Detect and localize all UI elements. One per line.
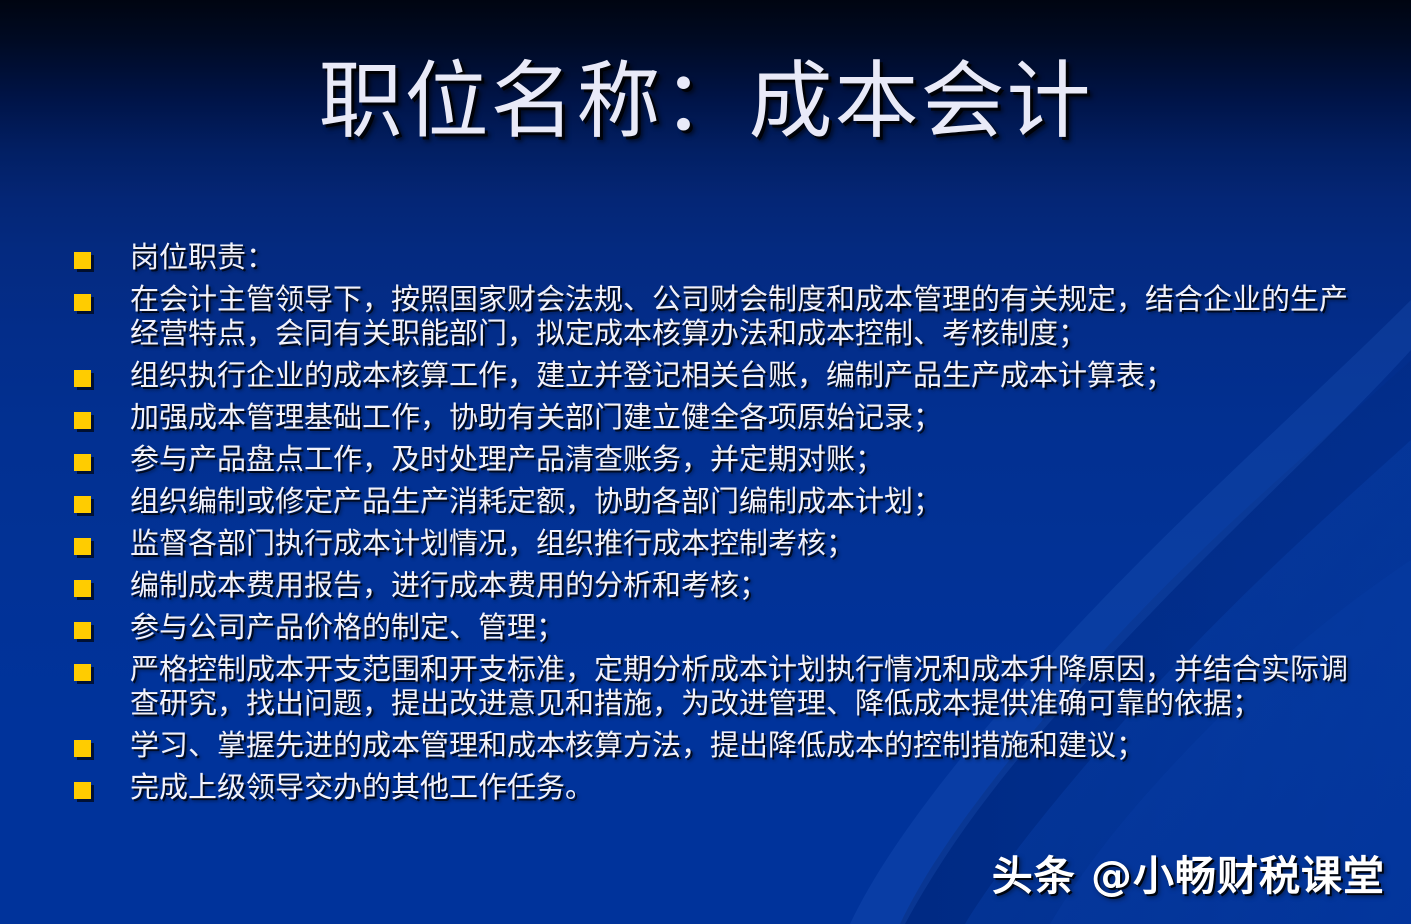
responsibilities-list: 岗位职责： 在会计主管领导下，按照国家财会法规、公司财会制度和成本管理的有关规定… — [74, 240, 1364, 812]
list-item: 参与公司产品价格的制定、管理； — [74, 610, 1364, 644]
list-item: 监督各部门执行成本计划情况，组织推行成本控制考核； — [74, 526, 1364, 560]
square-bullet-icon — [74, 664, 91, 681]
list-item-text: 学习、掌握先进的成本管理和成本核算方法，提出降低成本的控制措施和建议； — [130, 728, 1364, 762]
watermark-label: 头条 @小畅财税课堂 — [992, 842, 1385, 902]
list-item-text: 编制成本费用报告，进行成本费用的分析和考核； — [130, 568, 1364, 602]
square-bullet-icon — [74, 412, 91, 429]
list-item-text: 严格控制成本开支范围和开支标准，定期分析成本计划执行情况和成本升降原因，并结合实… — [130, 652, 1364, 720]
list-item: 在会计主管领导下，按照国家财会法规、公司财会制度和成本管理的有关规定，结合企业的… — [74, 282, 1364, 350]
list-item: 岗位职责： — [74, 240, 1364, 274]
list-item: 参与产品盘点工作，及时处理产品清查账务，并定期对账； — [74, 442, 1364, 476]
square-bullet-icon — [74, 580, 91, 597]
square-bullet-icon — [74, 538, 91, 555]
list-item: 编制成本费用报告，进行成本费用的分析和考核； — [74, 568, 1364, 602]
list-item-text: 组织编制或修定产品生产消耗定额，协助各部门编制成本计划； — [130, 484, 1364, 518]
list-item: 组织执行企业的成本核算工作，建立并登记相关台账，编制产品生产成本计算表； — [74, 358, 1364, 392]
list-item: 学习、掌握先进的成本管理和成本核算方法，提出降低成本的控制措施和建议； — [74, 728, 1364, 762]
list-item-text: 监督各部门执行成本计划情况，组织推行成本控制考核； — [130, 526, 1364, 560]
list-item: 严格控制成本开支范围和开支标准，定期分析成本计划执行情况和成本升降原因，并结合实… — [74, 652, 1364, 720]
square-bullet-icon — [74, 454, 91, 471]
square-bullet-icon — [74, 740, 91, 757]
square-bullet-icon — [74, 294, 91, 311]
list-item-text: 参与产品盘点工作，及时处理产品清查账务，并定期对账； — [130, 442, 1364, 476]
list-item: 组织编制或修定产品生产消耗定额，协助各部门编制成本计划； — [74, 484, 1364, 518]
list-item-text: 参与公司产品价格的制定、管理； — [130, 610, 1364, 644]
list-item-text: 在会计主管领导下，按照国家财会法规、公司财会制度和成本管理的有关规定，结合企业的… — [130, 282, 1364, 350]
square-bullet-icon — [74, 496, 91, 513]
square-bullet-icon — [74, 252, 91, 269]
list-item-text: 完成上级领导交办的其他工作任务。 — [130, 770, 1364, 804]
square-bullet-icon — [74, 370, 91, 387]
list-item-text: 岗位职责： — [130, 240, 1364, 274]
square-bullet-icon — [74, 782, 91, 799]
list-item: 加强成本管理基础工作，协助有关部门建立健全各项原始记录； — [74, 400, 1364, 434]
list-item-text: 加强成本管理基础工作，协助有关部门建立健全各项原始记录； — [130, 400, 1364, 434]
list-item: 完成上级领导交办的其他工作任务。 — [74, 770, 1364, 804]
page-title: 职位名称：成本会计 — [0, 52, 1411, 150]
presentation-slide: 职位名称：成本会计 岗位职责： 在会计主管领导下，按照国家财会法规、公司财会制度… — [0, 0, 1411, 924]
list-item-text: 组织执行企业的成本核算工作，建立并登记相关台账，编制产品生产成本计算表； — [130, 358, 1364, 392]
square-bullet-icon — [74, 622, 91, 639]
